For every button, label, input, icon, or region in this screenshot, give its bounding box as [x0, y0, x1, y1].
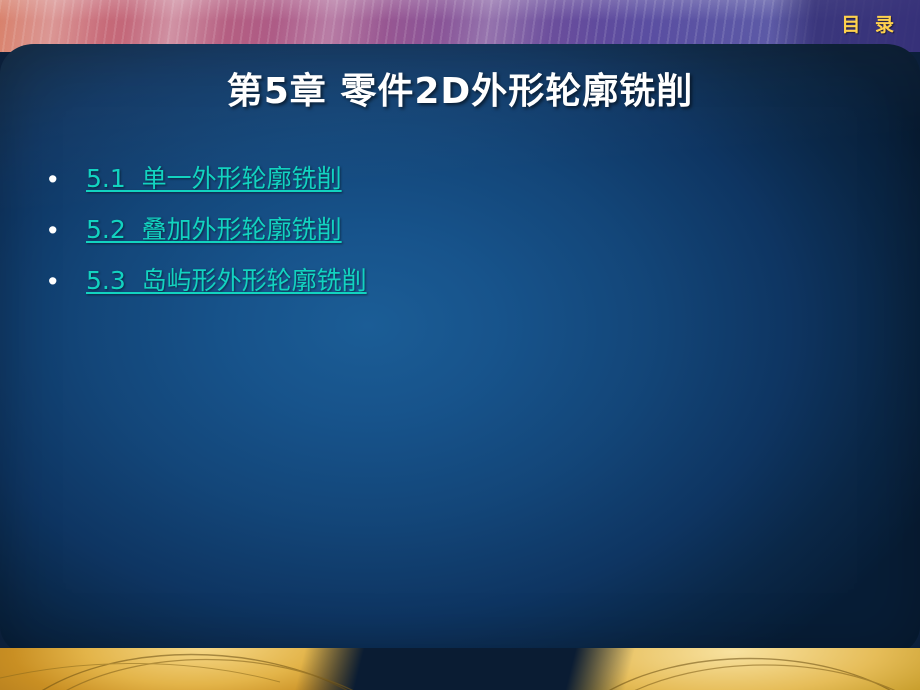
section-link-5-3[interactable]: 5.3 岛屿形外形轮廓铣削: [86, 264, 367, 298]
list-item[interactable]: • 5.3 岛屿形外形轮廓铣削: [42, 264, 742, 298]
bullet-list: • 5.1 单一外形轮廓铣削 • 5.2 叠加外形轮廓铣削 • 5.3 岛屿形外…: [42, 162, 742, 315]
section-link-5-2[interactable]: 5.2 叠加外形轮廓铣削: [86, 213, 342, 247]
bottom-decorative-band: [0, 648, 920, 690]
slide-content-panel: [0, 44, 920, 656]
presentation-slide: 目 录 第5章 零件2D外形轮廓铣削 • 5.1 单一外形轮廓铣削 • 5.2 …: [0, 0, 920, 690]
list-item[interactable]: • 5.2 叠加外形轮廓铣削: [42, 213, 742, 247]
section-link-5-1[interactable]: 5.1 单一外形轮廓铣削: [86, 162, 342, 196]
bottom-arc-lines: [0, 648, 920, 690]
table-of-contents-button[interactable]: 目 录: [829, 8, 910, 41]
bullet-dot-icon: •: [42, 264, 86, 298]
list-item[interactable]: • 5.1 单一外形轮廓铣削: [42, 162, 742, 196]
slide-title: 第5章 零件2D外形轮廓铣削: [0, 62, 920, 114]
bullet-dot-icon: •: [42, 162, 86, 196]
bullet-dot-icon: •: [42, 213, 86, 247]
